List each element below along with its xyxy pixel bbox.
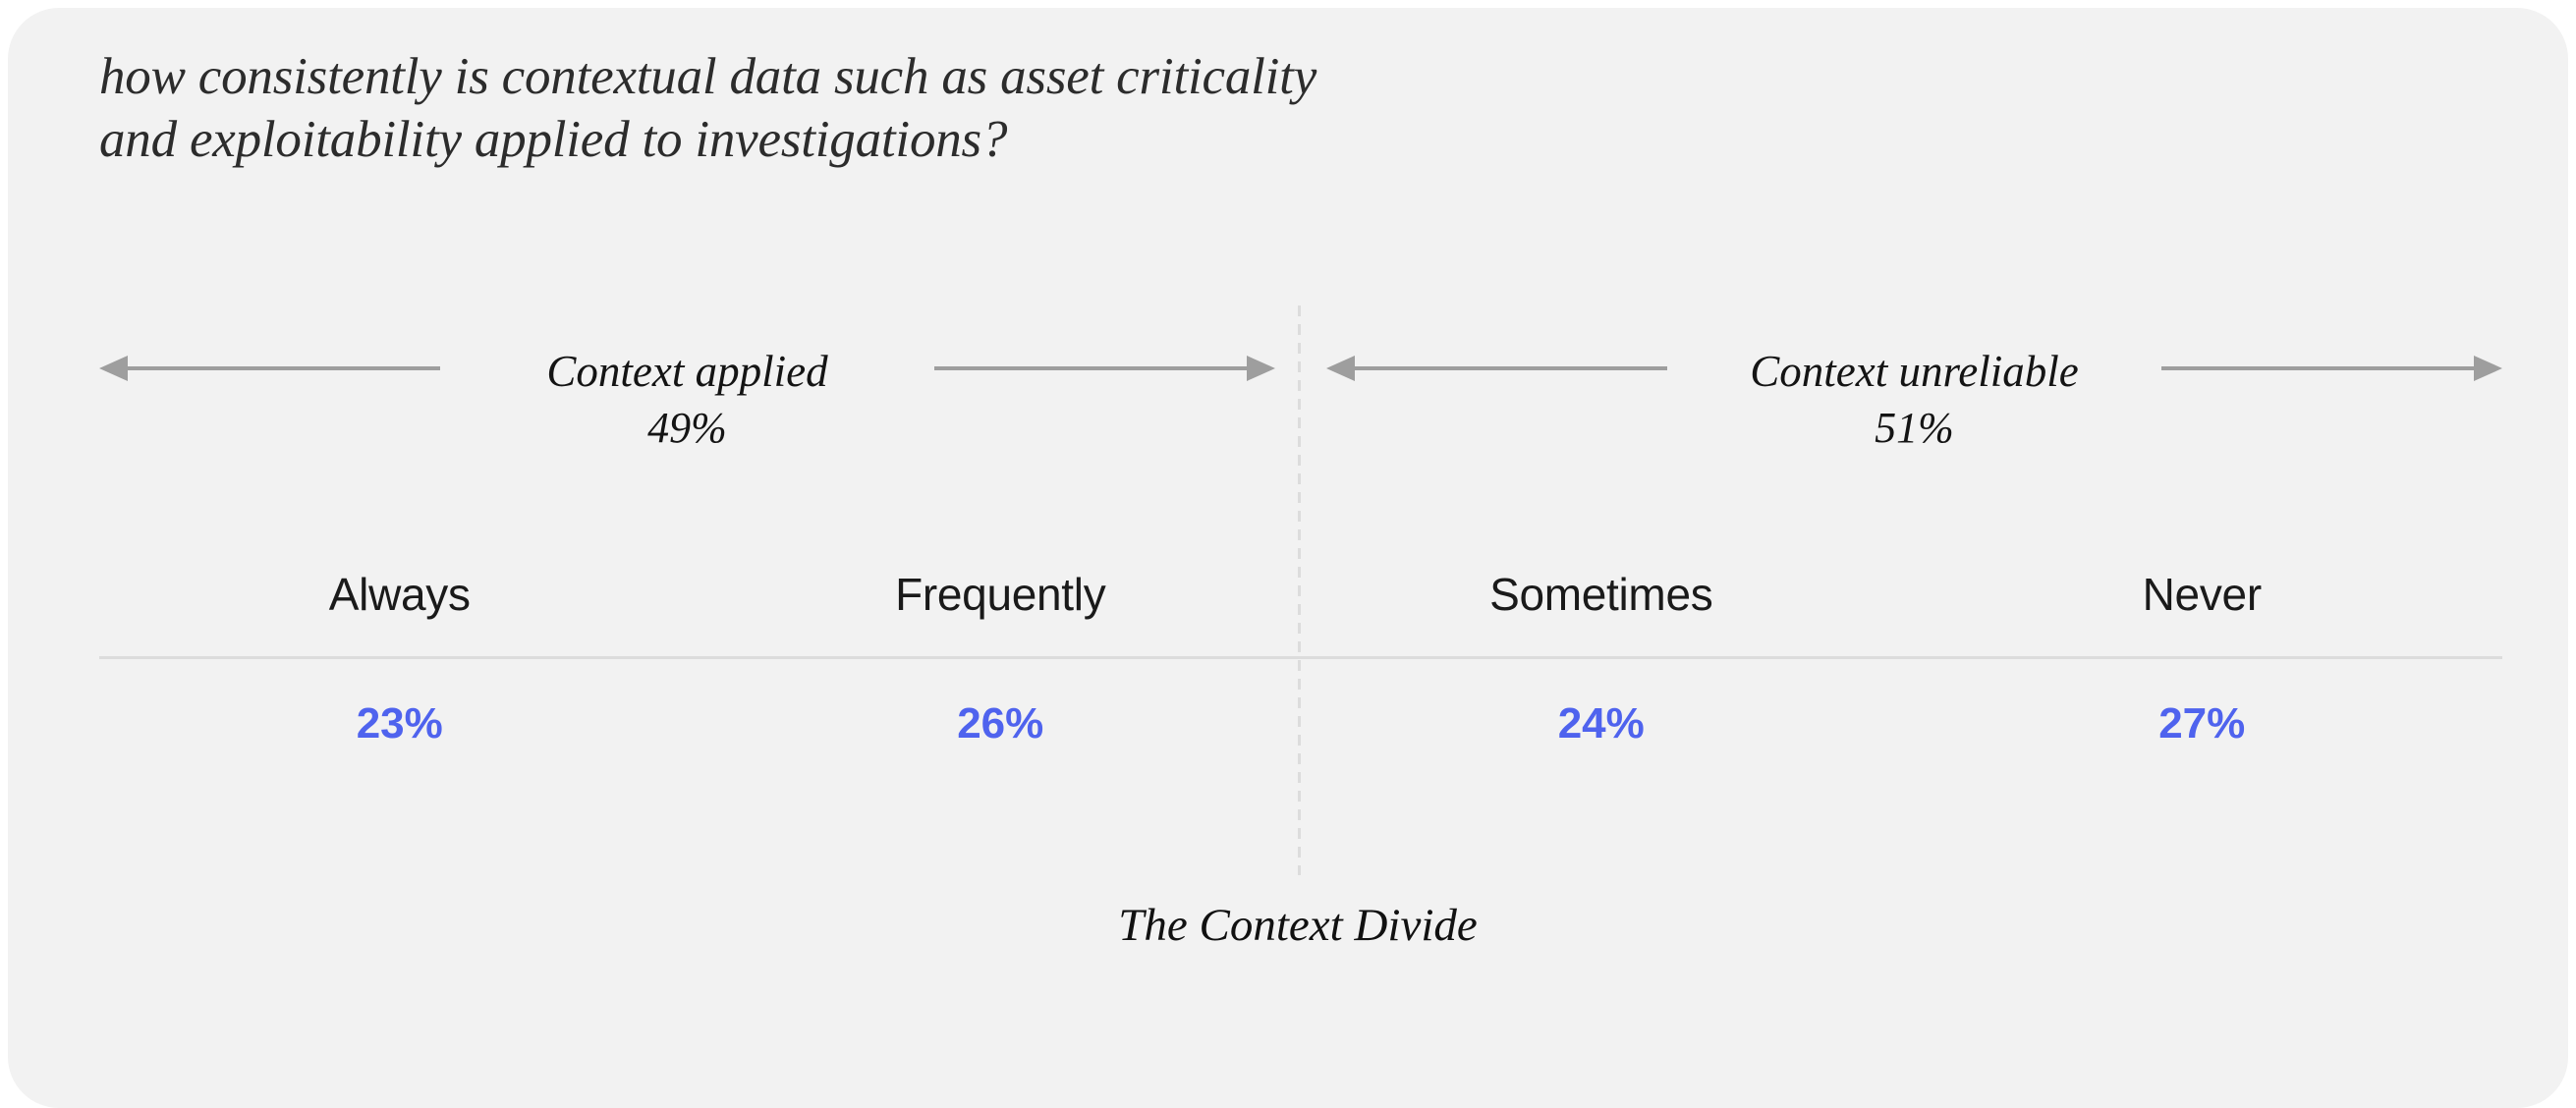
axis-band: Context applied 49% [99, 349, 2502, 467]
value-never: 27% [1902, 659, 2503, 751]
chart-caption: The Context Divide [8, 897, 2576, 954]
table-header-row: Always Frequently Sometimes Never [99, 566, 2502, 656]
infographic-card: how consistently is contextual data such… [8, 8, 2568, 1108]
column-header-always: Always [99, 566, 700, 656]
arrow-right-outward [2161, 349, 2502, 388]
band-label-text: Context applied [546, 347, 827, 396]
arrow-right-inward [934, 349, 1275, 388]
band-percent: 49% [99, 402, 1275, 455]
column-header-frequently: Frequently [700, 566, 1302, 656]
band-percent: 51% [1326, 402, 2502, 455]
value-frequently: 26% [700, 659, 1302, 751]
results-table: Always Frequently Sometimes Never 23% 26… [99, 566, 2502, 751]
band-label-text: Context unreliable [1750, 347, 2079, 396]
infographic-canvas: how consistently is contextual data such… [0, 0, 2576, 1079]
arrow-left-icon [1326, 349, 1667, 388]
arrow-right-icon [934, 349, 1275, 388]
page-title: how consistently is contextual data such… [99, 45, 2064, 171]
table-value-row: 23% 26% 24% 27% [99, 659, 2502, 751]
value-sometimes: 24% [1301, 659, 1902, 751]
value-always: 23% [99, 659, 700, 751]
chart-caption-text: The Context Divide [1118, 897, 1477, 954]
column-header-never: Never [1902, 566, 2503, 656]
arrow-left-outward [99, 349, 440, 388]
arrow-left-inward [1326, 349, 1667, 388]
page-title-line-2: and exploitability applied to investigat… [99, 108, 2064, 171]
arrow-right-icon [2161, 349, 2502, 388]
column-header-sometimes: Sometimes [1301, 566, 1902, 656]
page-title-line-1: how consistently is contextual data such… [99, 45, 2064, 108]
band-context-unreliable: Context unreliable 51% [1326, 349, 2502, 467]
arrow-left-icon [99, 349, 440, 388]
band-context-applied: Context applied 49% [99, 349, 1275, 467]
